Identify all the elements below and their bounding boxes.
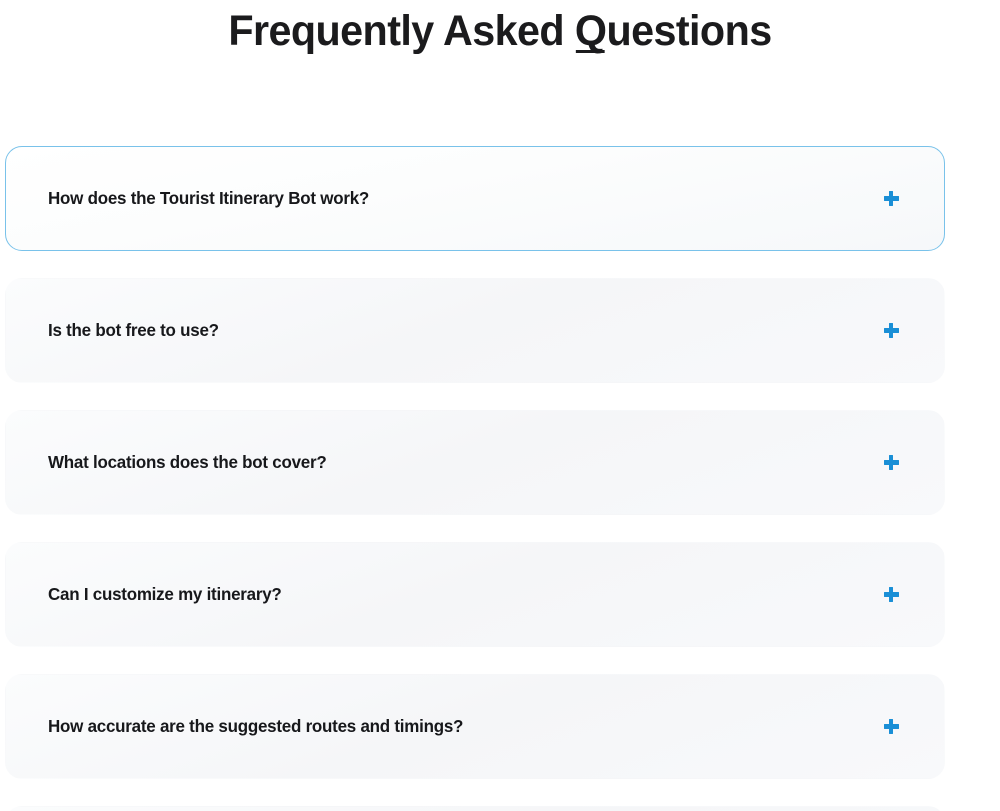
faq-item-1[interactable]: How does the Tourist Itinerary Bot work? [5,146,945,251]
plus-icon [884,587,899,602]
plus-icon [884,191,899,206]
faq-page: Frequently Asked Questions How does the … [0,0,1000,811]
faq-question-3: What locations does the bot cover? [48,452,326,473]
faq-item-5[interactable]: How accurate are the suggested routes an… [5,674,945,779]
faq-item-6[interactable] [5,806,945,811]
plus-icon [884,455,899,470]
faq-toggle-2[interactable] [880,320,902,342]
faq-toggle-3[interactable] [880,452,902,474]
page-title-part-1: Frequently Asked [228,7,575,55]
faq-question-5: How accurate are the suggested routes an… [48,716,463,737]
plus-icon [884,323,899,338]
page-title: Frequently Asked Questions [20,8,980,55]
faq-accordion-list: How does the Tourist Itinerary Bot work?… [0,146,1000,811]
faq-question-4: Can I customize my itinerary? [48,584,282,605]
faq-question-1: How does the Tourist Itinerary Bot work? [48,188,369,209]
page-title-q-underlined: Q [575,8,607,55]
faq-item-4[interactable]: Can I customize my itinerary? [5,542,945,647]
plus-icon [884,719,899,734]
faq-toggle-4[interactable] [880,584,902,606]
faq-question-2: Is the bot free to use? [48,320,219,341]
faq-toggle-1[interactable] [880,188,902,210]
page-title-part-2: uestions [606,7,771,55]
faq-toggle-5[interactable] [880,716,902,738]
faq-item-2[interactable]: Is the bot free to use? [5,278,945,383]
faq-item-3[interactable]: What locations does the bot cover? [5,410,945,515]
